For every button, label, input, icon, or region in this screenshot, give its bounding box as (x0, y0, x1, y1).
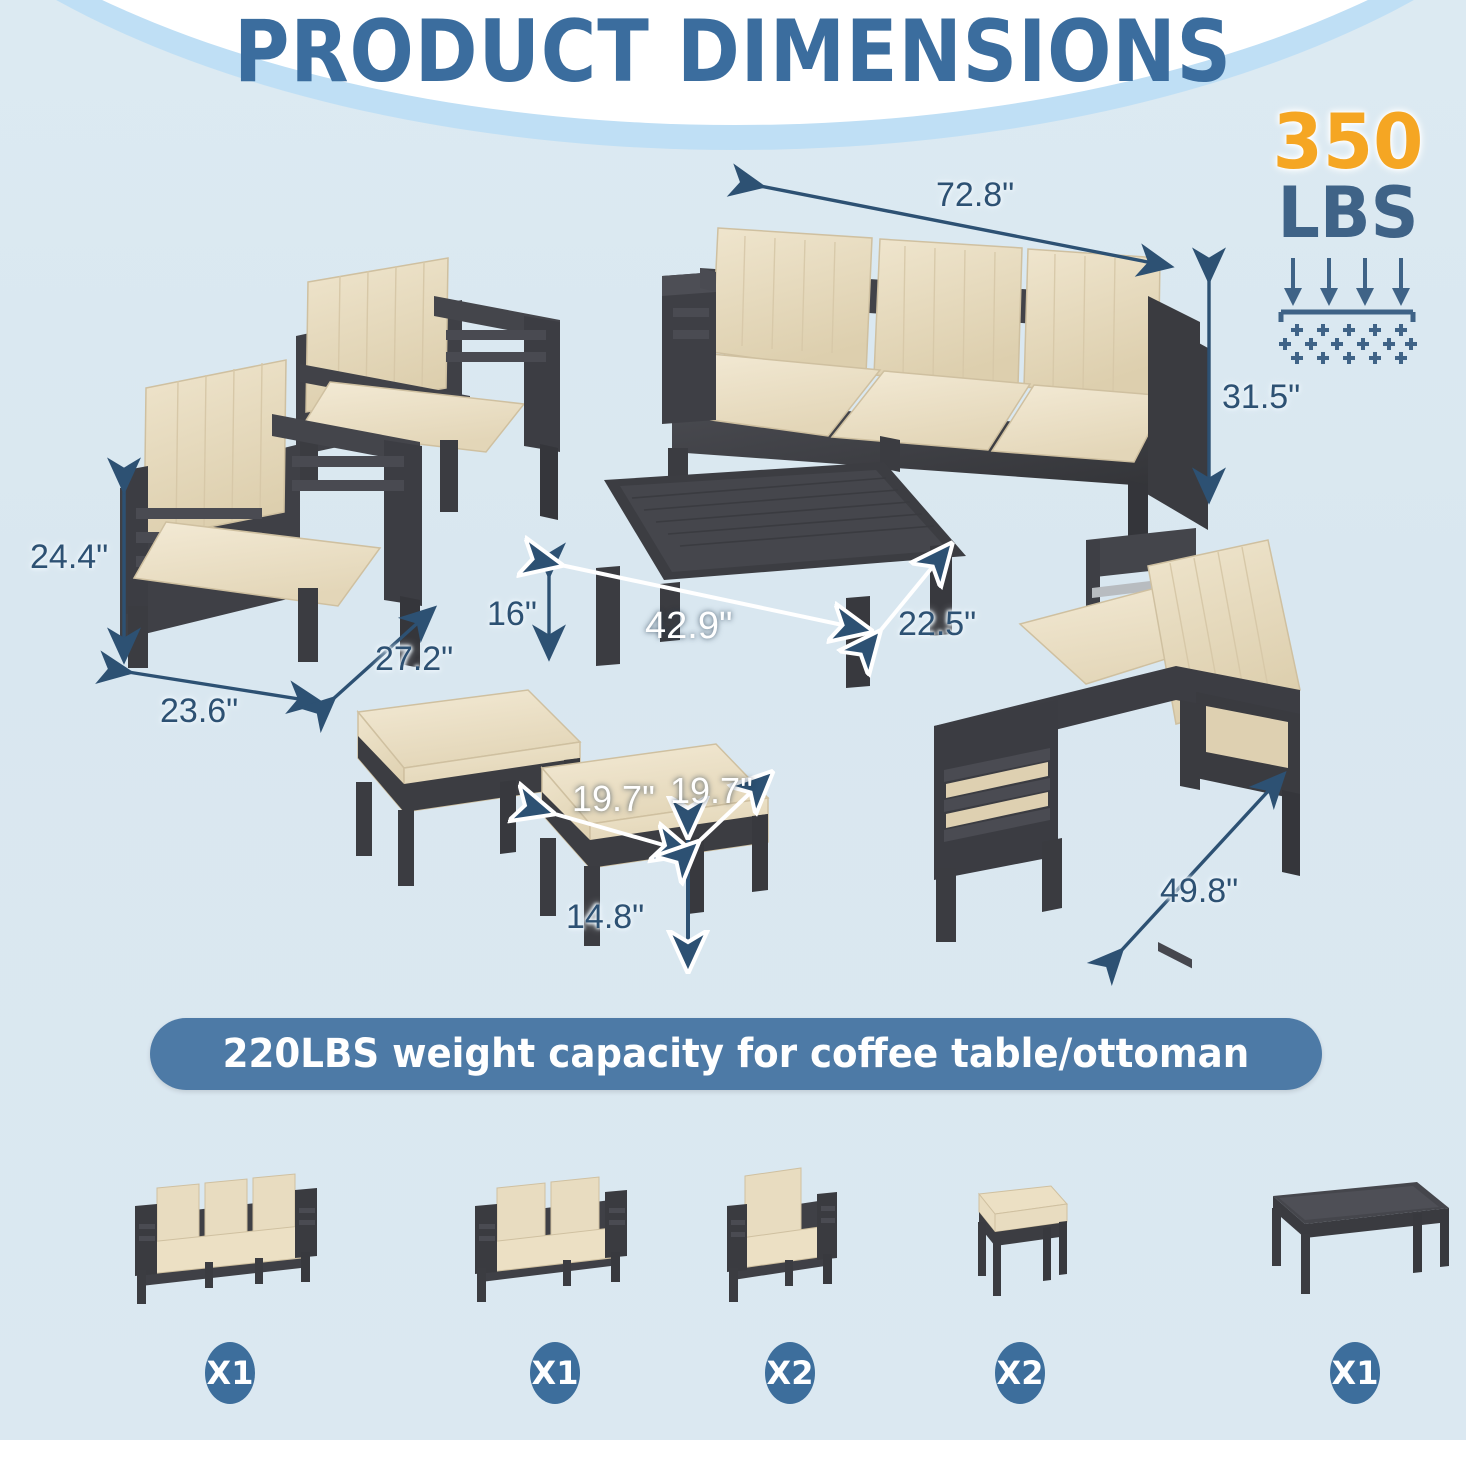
quantity-badge-sofa: X1 (205, 1342, 255, 1404)
furniture-scene: 72.8" 31.5" 24.4" 23.6" 27.2" 16" 42.9" … (0, 0, 1466, 1030)
quantity-badge-ottoman: X2 (995, 1342, 1045, 1404)
dimension-label-ottoman-depth: 19.7" (670, 770, 753, 812)
ottoman-thumbnail-icon (870, 1150, 1170, 1320)
components-breakdown: X1 X (0, 1150, 1466, 1440)
dimension-label-loveseat-width: 49.8" (1160, 872, 1238, 911)
dimension-label-ottoman-width: 19.7" (572, 778, 655, 820)
sofa-thumbnail-icon (80, 1150, 380, 1320)
weight-capacity-text: 220LBS weight capacity for coffee table/… (223, 1031, 1250, 1077)
coffee-table-illustration (596, 462, 966, 688)
component-coffee-table: X1 (1205, 1150, 1466, 1404)
dimension-label-sofa-height: 31.5" (1222, 378, 1300, 417)
coffee-table-thumbnail-icon (1205, 1150, 1466, 1320)
quantity-badge-coffee-table: X1 (1330, 1342, 1380, 1404)
quantity-badge-loveseat: X1 (530, 1342, 580, 1404)
dimension-label-ottoman-height: 14.8" (566, 898, 644, 937)
dimension-label-table-length: 42.9" (645, 605, 732, 648)
component-ottoman: X2 (870, 1150, 1170, 1404)
component-sofa: X1 (80, 1150, 380, 1404)
dimension-label-sofa-width: 72.8" (936, 176, 1014, 215)
dimension-label-chair-depth: 27.2" (375, 640, 453, 679)
dimension-label-chair-width: 23.6" (160, 692, 238, 731)
weight-capacity-banner: 220LBS weight capacity for coffee table/… (150, 1018, 1322, 1090)
product-dimensions-infographic: PRODUCT DIMENSIONS 350 LBS (0, 0, 1466, 1466)
quantity-badge-armchair: X2 (765, 1342, 815, 1404)
loveseat-illustration (934, 528, 1300, 942)
dimension-label-table-height: 16" (487, 595, 537, 634)
bottom-white-strip (0, 1440, 1466, 1466)
dimension-label-chair-height: 24.4" (30, 538, 108, 577)
dimension-label-table-depth: 22.5" (898, 605, 976, 644)
